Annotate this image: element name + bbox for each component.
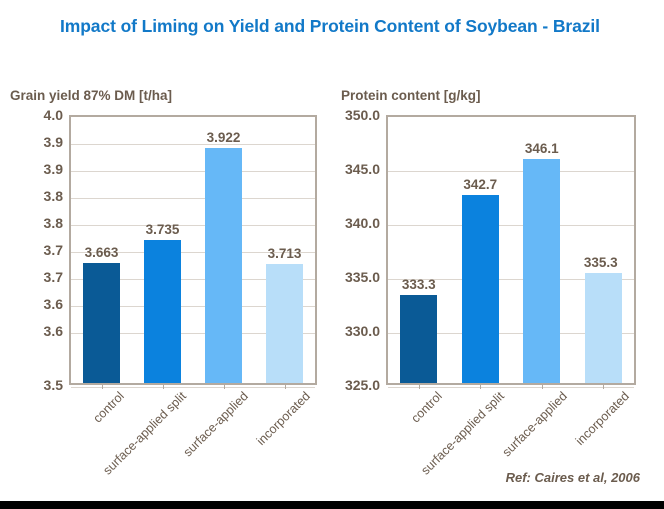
chart-axis-title-grain-yield: Grain yield 87% DM [t/ha] <box>10 88 172 103</box>
y-axis-tick-label: 325.0 <box>345 377 380 393</box>
footer-bar <box>0 501 664 509</box>
chart-panel-grain-yield: Grain yield 87% DM [t/ha] 4.03.93.93.83.… <box>0 0 332 509</box>
plot-area-grain-yield: 3.6633.7353.9223.713 <box>69 115 317 385</box>
chart-axis-title-protein-content: Protein content [g/kg] <box>341 88 481 103</box>
y-axis-tick-label: 3.9 <box>44 134 63 150</box>
bar-value-label: 3.735 <box>146 222 180 237</box>
y-axis-tick-label: 330.0 <box>345 323 380 339</box>
y-axis-labels-grain-yield: 4.03.93.93.83.83.73.73.63.63.5 <box>0 115 63 385</box>
bar-value-label: 3.922 <box>207 130 241 145</box>
x-axis-category-label: surface-applied <box>499 389 569 459</box>
bar-value-label: 346.1 <box>525 141 559 156</box>
bar-series-grain-yield: 3.6633.7353.9223.713 <box>71 117 315 383</box>
bar-slot: 3.663 <box>71 117 132 383</box>
y-axis-tick-label: 3.6 <box>44 296 63 312</box>
y-axis-tick-label: 340.0 <box>345 215 380 231</box>
bar-slot: 346.1 <box>511 117 573 383</box>
bar-slot: 333.3 <box>388 117 450 383</box>
bar-slot: 335.3 <box>573 117 635 383</box>
x-axis-category-label: incorporated <box>573 389 632 448</box>
y-axis-tick-label: 3.8 <box>44 215 63 231</box>
slide-canvas: Impact of Liming on Yield and Protein Co… <box>0 0 664 509</box>
bar[interactable]: 3.735 <box>144 240 181 383</box>
bar-slot: 3.922 <box>193 117 254 383</box>
bar-slot: 3.713 <box>254 117 315 383</box>
x-axis-category-label: control <box>408 389 444 425</box>
bar-value-label: 3.663 <box>85 245 119 260</box>
y-axis-tick-label: 350.0 <box>345 107 380 123</box>
y-axis-tick-label: 3.7 <box>44 242 63 258</box>
bar-value-label: 3.713 <box>268 246 302 261</box>
reference-note: Ref: Caires et al, 2006 <box>506 470 640 485</box>
bar[interactable]: 3.922 <box>205 148 242 383</box>
bar-series-protein-content: 333.3342.7346.1335.3 <box>388 117 634 383</box>
y-axis-tick-label: 345.0 <box>345 161 380 177</box>
y-axis-tick-label: 3.9 <box>44 161 63 177</box>
bar[interactable]: 342.7 <box>462 195 499 383</box>
bar[interactable]: 346.1 <box>523 159 560 384</box>
x-axis-category-label: incorporated <box>254 389 313 448</box>
x-axis-category-label: control <box>91 389 127 425</box>
y-axis-tick-label: 3.7 <box>44 269 63 285</box>
bar[interactable]: 335.3 <box>585 273 622 383</box>
bar-value-label: 335.3 <box>584 255 618 270</box>
y-axis-tick-label: 3.8 <box>44 188 63 204</box>
bar-slot: 3.735 <box>132 117 193 383</box>
bar-slot: 342.7 <box>450 117 512 383</box>
gridline <box>71 387 315 388</box>
bar[interactable]: 3.713 <box>266 264 303 383</box>
gridline <box>388 387 634 388</box>
y-axis-tick-label: 3.5 <box>44 377 63 393</box>
bar[interactable]: 3.663 <box>83 263 120 383</box>
bar-value-label: 333.3 <box>402 277 436 292</box>
bar[interactable]: 333.3 <box>400 295 437 383</box>
y-axis-labels-protein-content: 350.0345.0340.0335.0330.0325.0 <box>330 115 380 385</box>
y-axis-tick-label: 335.0 <box>345 269 380 285</box>
x-axis-categories-grain-yield: controlsurface-applied splitsurface-appl… <box>69 389 317 489</box>
x-axis-category-label: surface-applied <box>181 389 251 459</box>
y-axis-tick-label: 4.0 <box>44 107 63 123</box>
plot-area-protein-content: 333.3342.7346.1335.3 <box>386 115 636 385</box>
y-axis-tick-label: 3.6 <box>44 323 63 339</box>
bar-value-label: 342.7 <box>463 177 497 192</box>
